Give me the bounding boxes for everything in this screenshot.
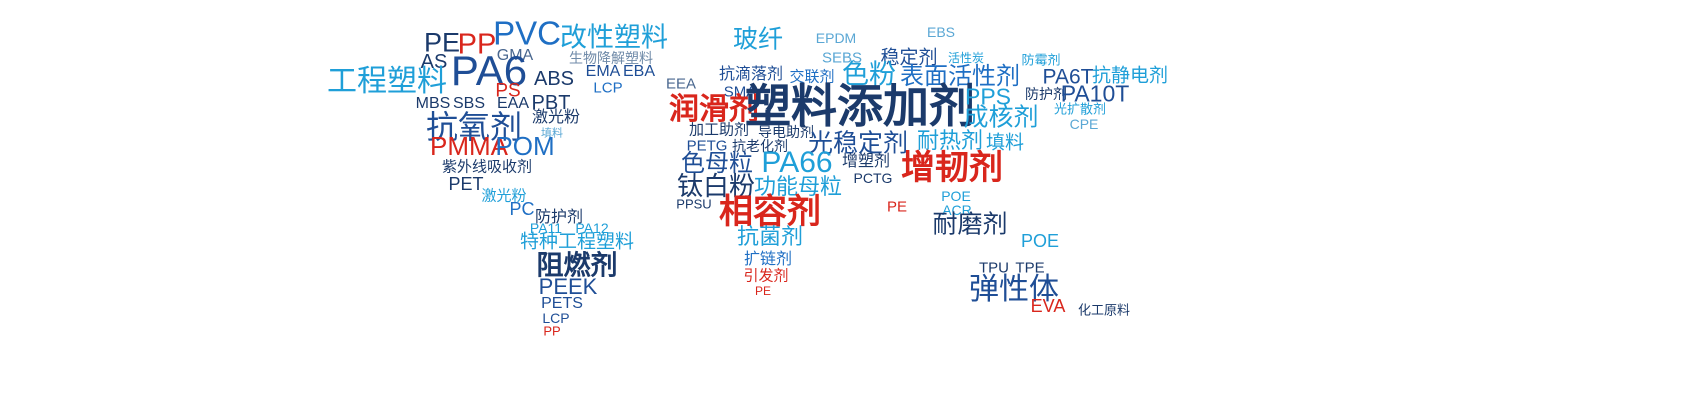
cloud-word[interactable]: 特种工程塑料 (520, 233, 634, 252)
cloud-word[interactable]: EBS (927, 25, 955, 39)
cloud-word[interactable]: 增塑剂 (842, 153, 890, 169)
cloud-word[interactable]: PPSU (676, 198, 711, 211)
cloud-word[interactable]: EPDM (816, 31, 856, 45)
cloud-word[interactable]: POM (495, 133, 554, 159)
cloud-word[interactable]: 工程塑料 (327, 67, 447, 97)
cloud-word[interactable]: 导电助剂 (758, 126, 814, 140)
cloud-word[interactable]: ABS (534, 69, 574, 89)
cloud-word[interactable]: 激光粉 (532, 109, 580, 125)
cloud-word[interactable]: 相容剂 (719, 195, 821, 229)
word-cloud-canvas: PEPPPVCGMAASPA6ABS工程塑料PSMBSSBSEAAPBT抗氧剂激… (0, 0, 1707, 400)
cloud-word[interactable]: EVA (1031, 297, 1066, 315)
cloud-word[interactable]: PC (509, 200, 534, 218)
cloud-word[interactable]: 增韧剂 (901, 151, 1003, 185)
cloud-word[interactable]: 成核剂 (963, 105, 1038, 130)
cloud-word[interactable]: PE (755, 285, 771, 297)
cloud-word[interactable]: 引发剂 (743, 269, 788, 284)
cloud-word[interactable]: PET (448, 175, 483, 193)
cloud-word[interactable]: PP (543, 325, 560, 338)
cloud-word[interactable]: 耐磨剂 (932, 212, 1007, 237)
cloud-word[interactable]: 玻纤 (733, 27, 783, 52)
cloud-word[interactable]: 化工原料 (1078, 305, 1130, 318)
cloud-word[interactable]: 紫外线吸收剂 (442, 160, 532, 175)
cloud-word[interactable]: PCTG (854, 171, 893, 185)
cloud-word[interactable]: 抗菌剂 (737, 227, 803, 249)
cloud-word[interactable]: 改性塑料 (560, 25, 668, 52)
cloud-word[interactable]: POE (1021, 232, 1059, 250)
cloud-word[interactable]: CPE (1070, 117, 1099, 131)
cloud-word[interactable]: PA66 (761, 148, 832, 178)
cloud-word[interactable]: 加工助剂 (689, 123, 749, 138)
cloud-word[interactable]: 光扩散剂 (1054, 104, 1106, 117)
cloud-word[interactable]: EEA (666, 77, 696, 92)
cloud-word[interactable]: LCP (593, 81, 622, 96)
cloud-word[interactable]: PVC (493, 17, 561, 50)
cloud-word[interactable]: POE (941, 189, 971, 203)
cloud-word[interactable]: 塑料添加剂 (745, 83, 975, 129)
cloud-word[interactable]: PE (887, 200, 907, 215)
cloud-word[interactable]: EMA (586, 64, 621, 80)
cloud-word[interactable]: 扩链剂 (744, 251, 792, 267)
cloud-word[interactable]: EBA (623, 64, 655, 80)
